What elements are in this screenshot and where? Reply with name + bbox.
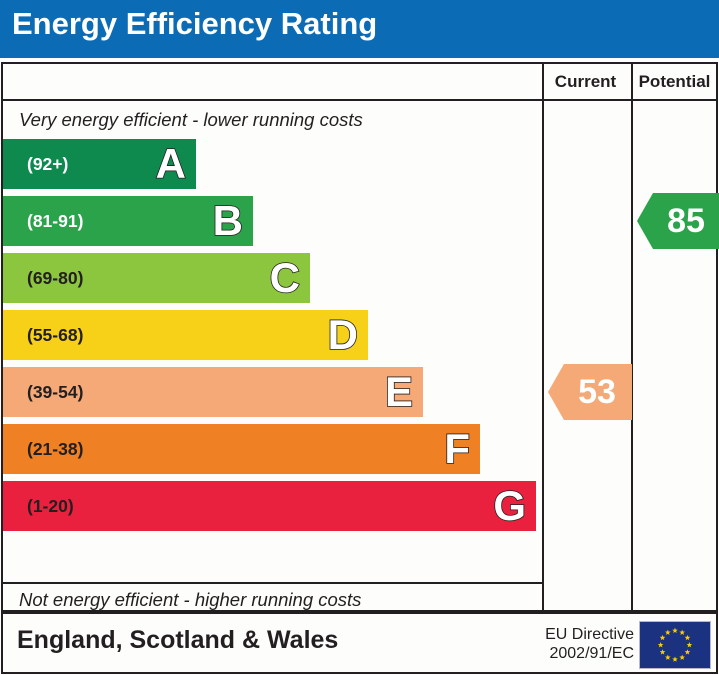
band-bar-f: (21-38)F [3,424,480,474]
band-bar-e: (39-54)E [3,367,423,417]
caption-bottom: Not energy efficient - higher running co… [19,589,361,611]
rating-value-potential: 85 [667,204,705,238]
rating-table: Current Potential Very energy efficient … [1,62,718,612]
band-letter-b: B [213,196,243,246]
eu-flag-star [672,656,678,661]
band-bar-a: (92+)A [3,139,196,189]
band-letter-a: A [156,139,186,189]
eu-flag-star [679,630,685,635]
eu-flag-star [660,649,666,654]
eu-flag-star [679,654,685,659]
band-range-g: (1-20) [27,481,74,531]
eu-flag-icon [639,621,711,669]
rating-value-current: 53 [578,375,616,409]
band-range-c: (69-80) [27,253,83,303]
footer-directive-line1: EU Directive [524,625,634,644]
band-bars: (92+)A(81-91)B(69-80)C(55-68)D(39-54)E(2… [3,139,542,579]
band-range-e: (39-54) [27,367,83,417]
title-bar: Energy Efficiency Rating [0,0,719,58]
caption-bottom-rule [3,582,542,584]
band-bar-d: (55-68)D [3,310,368,360]
eu-flag-star [672,628,678,633]
eu-flag-star [665,654,671,659]
rating-badge-current: 53 [548,364,632,420]
band-letter-g: G [493,481,526,531]
footer: England, Scotland & Wales EU Directive 2… [1,612,718,674]
energy-efficiency-rating-chart: Energy Efficiency Rating Current Potenti… [0,0,719,675]
band-range-b: (81-91) [27,196,83,246]
page-title: Energy Efficiency Rating [12,6,377,42]
band-range-a: (92+) [27,139,68,189]
footer-region: England, Scotland & Wales [17,626,338,655]
eu-flag-star [687,642,693,647]
band-letter-f: F [444,424,470,474]
band-letter-e: E [385,367,413,417]
footer-directive: EU Directive 2002/91/EC [524,625,634,663]
eu-flag-star [685,649,691,654]
column-header-current: Current [542,64,629,99]
band-bar-g: (1-20)G [3,481,536,531]
column-header-potential: Potential [631,64,718,99]
eu-flag-star [665,630,671,635]
band-range-d: (55-68) [27,310,83,360]
band-bar-b: (81-91)B [3,196,253,246]
footer-directive-line2: 2002/91/EC [524,644,634,663]
column-divider-current [542,64,544,612]
column-header-row: Current Potential [3,64,716,101]
band-bar-c: (69-80)C [3,253,310,303]
rating-badge-potential: 85 [637,193,719,249]
eu-flag-star [685,635,691,640]
band-letter-c: C [270,253,300,303]
eu-flag-star [660,635,666,640]
band-letter-d: D [328,310,358,360]
eu-flag-star [658,642,664,647]
column-divider-potential [631,64,633,612]
caption-top: Very energy efficient - lower running co… [19,109,363,131]
band-range-f: (21-38) [27,424,83,474]
